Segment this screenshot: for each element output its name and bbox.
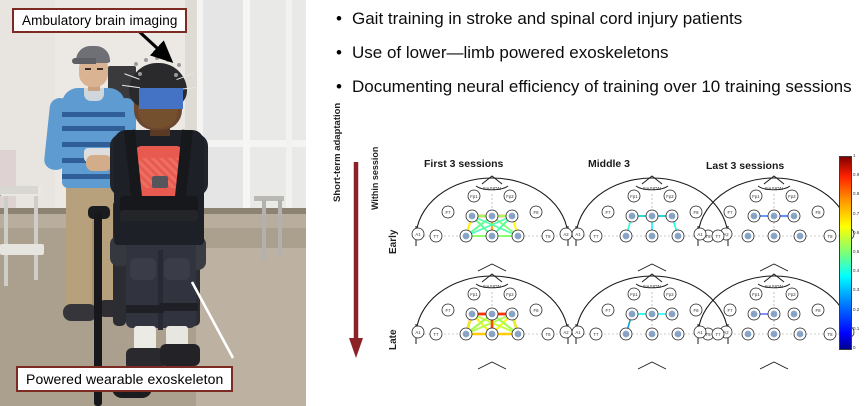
electrode-node-marker-Cz [489, 331, 496, 338]
nose-icon [642, 176, 662, 184]
colorbar-gradient [839, 156, 852, 350]
electrode-label-F7: F7 [605, 308, 611, 313]
electrode-node-marker-F4 [669, 311, 676, 318]
inion-marker [478, 362, 506, 369]
bullet-text: Gait training in stroke and spinal cord … [352, 6, 742, 31]
electrode-label-A1: A1 [697, 232, 703, 237]
electrode-label-Fp2: Fp2 [506, 194, 514, 199]
electrode-node-marker-F4 [669, 213, 676, 220]
electrode-label-Fp1: Fp1 [752, 292, 760, 297]
electrode-node-marker-C4 [797, 331, 804, 338]
row-label-early: Early [388, 230, 399, 254]
connectivity-figure: Short-term adaptation Within session Ear… [336, 150, 865, 406]
electrode-label-Fp1: Fp1 [470, 194, 478, 199]
electrode-label-F8: F8 [533, 210, 539, 215]
nasion-label: NASION [483, 186, 501, 191]
electrode-node-marker-F3 [629, 213, 636, 220]
photo-glassroom-chair-leg-2 [278, 200, 282, 256]
column-title-middle-3: Middle 3 [588, 158, 630, 170]
inion-marker [760, 362, 788, 369]
electrode-label-Fp1: Fp1 [470, 292, 478, 297]
electrode-label-A1: A1 [575, 232, 581, 237]
colorbar-tick-label: 0.3 [853, 288, 859, 292]
colorbar-tick-label: 0.8 [853, 192, 859, 196]
electrode-node-marker-C3 [623, 331, 630, 338]
eeg-electrode-dot [138, 72, 142, 76]
electrode-node-marker-C4 [515, 233, 522, 240]
colorbar-tick-label: 0 [853, 346, 856, 350]
electrode-node-marker-C4 [797, 233, 804, 240]
electrode-node-marker-Cz [649, 331, 656, 338]
electrode-label-F8: F8 [815, 308, 821, 313]
electrode-node-marker-Cz [489, 233, 496, 240]
electrode-label-T8: T8 [827, 234, 833, 239]
pointer-arrow-to-exoskeleton [186, 276, 238, 362]
electrode-label-T7: T7 [433, 332, 439, 337]
list-item: • Documenting neural efficiency of train… [336, 74, 856, 99]
electrode-node-marker-C3 [745, 331, 752, 338]
photo-researcher-shoe-left [63, 304, 97, 321]
electrode-node-marker-Fz [489, 213, 496, 220]
electrode-node-marker-C3 [463, 331, 470, 338]
electrode-node-marker-F4 [791, 213, 798, 220]
electrode-label-Fp2: Fp2 [666, 292, 674, 297]
electrode-label-T7: T7 [593, 234, 599, 239]
electrode-node-marker-F3 [469, 311, 476, 318]
electrode-label-Fp2: Fp2 [788, 194, 796, 199]
electrode-node-marker-F4 [509, 213, 516, 220]
row-label-late: Late [388, 329, 399, 350]
photo-researcher-cap-brim [72, 58, 96, 64]
electrode-label-Fp1: Fp1 [752, 194, 760, 199]
colorbar-tick-label: 0.7 [853, 212, 859, 216]
colorbar-tick-label: 0.9 [853, 173, 859, 177]
bullet-list: • Gait training in stroke and spinal cor… [336, 6, 856, 108]
nose-icon [764, 274, 784, 282]
electrode-node-marker-Fz [771, 213, 778, 220]
electrode-label-F8: F8 [533, 308, 539, 313]
electrode-label-Fp1: Fp1 [630, 194, 638, 199]
headplot-early-last3: NASIONA1A2Fp1Fp2F7F3FzF4F8T7C3CzC4T8 [684, 172, 864, 276]
electrode-node-marker-Cz [771, 233, 778, 240]
photo-exoskeleton-knee-left [130, 258, 156, 280]
electrode-label-T7: T7 [593, 332, 599, 337]
headplot-early-first3: NASIONA1A2Fp1Fp2F7F3FzF4F8T7C3CzC4T8 [402, 172, 582, 276]
photo-researcher-hand [86, 155, 112, 171]
nasion-label: NASION [643, 186, 661, 191]
electrode-label-A1: A1 [415, 232, 421, 237]
electrode-node-marker-F3 [469, 213, 476, 220]
electrode-label-F8: F8 [815, 210, 821, 215]
electrode-node-marker-Cz [771, 331, 778, 338]
electrode-label-Fp2: Fp2 [506, 292, 514, 297]
electrode-node-marker-Fz [771, 311, 778, 318]
bullet-text: Documenting neural efficiency of trainin… [352, 74, 852, 99]
electrode-label-T7: T7 [715, 332, 721, 337]
electrode-label-Fp1: Fp1 [630, 292, 638, 297]
nose-icon [764, 176, 784, 184]
photo-chair-back [0, 186, 38, 194]
nose-icon [642, 274, 662, 282]
electrode-label-F7: F7 [445, 210, 451, 215]
colorbar-tick-label: 0.4 [853, 269, 859, 273]
nasion-label: NASION [765, 186, 783, 191]
electrode-node-marker-F4 [791, 311, 798, 318]
nasion-label: NASION [483, 284, 501, 289]
photo-researcher-shirt-stripe-2 [62, 126, 125, 131]
axis-label-short-term-adaptation: Short-term adaptation [332, 82, 343, 202]
electrode-node-marker-Fz [489, 311, 496, 318]
colorbar: 10.90.80.70.60.50.40.30.20.10 [839, 156, 865, 354]
electrode-node-marker-F3 [751, 311, 758, 318]
bullet-dot-icon: • [336, 40, 352, 65]
photo-caption-top: Ambulatory brain imaging [12, 8, 187, 33]
electrode-node-marker-C3 [463, 233, 470, 240]
electrode-node-marker-C4 [675, 233, 682, 240]
electrode-node-marker-C3 [623, 233, 630, 240]
electrode-node-marker-C4 [515, 331, 522, 338]
electrode-label-T7: T7 [715, 234, 721, 239]
electrode-label-Fp2: Fp2 [666, 194, 674, 199]
electrode-label-T8: T8 [827, 332, 833, 337]
axis-label-within-session: Within session [370, 100, 380, 210]
electrode-node-marker-C4 [675, 331, 682, 338]
colorbar-tick-label: 0.2 [853, 308, 859, 312]
photo-chair-leg-1 [4, 196, 8, 286]
electrode-node-marker-F3 [751, 213, 758, 220]
electrode-label-T8: T8 [545, 332, 551, 337]
electrode-node-marker-C3 [745, 233, 752, 240]
inion-marker [638, 362, 666, 369]
nasion-label: NASION [643, 284, 661, 289]
electrode-label-A1: A1 [697, 330, 703, 335]
eeg-electrode-dot [174, 73, 178, 77]
electrode-label-F7: F7 [605, 210, 611, 215]
bullet-dot-icon: • [336, 6, 352, 31]
electrode-node-marker-Cz [649, 233, 656, 240]
headplot-late-first3: NASIONA1A2Fp1Fp2F7F3FzF4F8T7C3CzC4T8 [402, 270, 582, 374]
electrode-node-marker-F3 [629, 311, 636, 318]
electrode-label-T8: T8 [545, 234, 551, 239]
colorbar-tick-label: 0.1 [853, 327, 859, 331]
electrode-label-A1: A1 [415, 330, 421, 335]
photo-harness-buckle [152, 176, 168, 188]
photo-caption-bottom: Powered wearable exoskeleton [16, 366, 233, 392]
nasion-label: NASION [765, 284, 783, 289]
photo-researcher-eye-right [97, 68, 103, 70]
colorbar-tick-label: 0.6 [853, 231, 859, 235]
column-title-last-3-sessions: Last 3 sessions [706, 160, 784, 172]
nose-icon [482, 274, 502, 282]
photo-researcher-shirt-stripe-1 [62, 112, 125, 117]
headplot-late-last3: NASIONA1A2Fp1Fp2F7F3FzF4F8T7C3CzC4T8 [684, 270, 864, 374]
electrode-node-marker-Fz [649, 311, 656, 318]
headplot-svg: NASIONA1A2Fp1Fp2F7F3FzF4F8T7C3CzC4T8 [684, 172, 864, 276]
nose-icon [482, 176, 502, 184]
electrode-label-F7: F7 [727, 210, 733, 215]
photo-glassroom-chair-leg-1 [262, 200, 266, 260]
electrode-node-marker-F4 [509, 311, 516, 318]
electrode-node-marker-Fz [649, 213, 656, 220]
photo-subject-leg-gap [158, 250, 163, 330]
photo-exoskeleton-ankle-strap-left [126, 305, 164, 313]
colorbar-tick-label: 0.5 [853, 250, 859, 254]
electrode-label-Fp2: Fp2 [788, 292, 796, 297]
list-item: • Gait training in stroke and spinal cor… [336, 6, 856, 31]
colorbar-tick-label: 1 [853, 154, 856, 158]
electrode-label-F7: F7 [445, 308, 451, 313]
electrode-label-T7: T7 [433, 234, 439, 239]
list-item: • Use of lower—limb powered exoskeletons [336, 40, 856, 65]
headplot-svg: NASIONA1A2Fp1Fp2F7F3FzF4F8T7C3CzC4T8 [684, 270, 864, 374]
bullet-text: Use of lower—limb powered exoskeletons [352, 40, 669, 65]
photo-chair-seat-2 [0, 244, 44, 255]
headplot-svg: NASIONA1A2Fp1Fp2F7F3FzF4F8T7C3CzC4T8 [402, 172, 582, 276]
ambulatory-brain-imaging-photo: Ambulatory brain imaging Powered wearabl… [0, 0, 306, 406]
photo-exoskeleton-waist-belt-lower [120, 210, 198, 221]
photo-researcher-eye-left [85, 68, 91, 70]
headplot-svg: NASIONA1A2Fp1Fp2F7F3FzF4F8T7C3CzC4T8 [402, 270, 582, 374]
electrode-label-A1: A1 [575, 330, 581, 335]
long-term-adaptation-arrow-icon [346, 162, 366, 358]
column-title-first-3-sessions: First 3 sessions [424, 158, 503, 170]
electrode-label-F7: F7 [727, 308, 733, 313]
photo-chair-leg-2 [34, 196, 38, 280]
face-redaction-bar [139, 88, 183, 109]
